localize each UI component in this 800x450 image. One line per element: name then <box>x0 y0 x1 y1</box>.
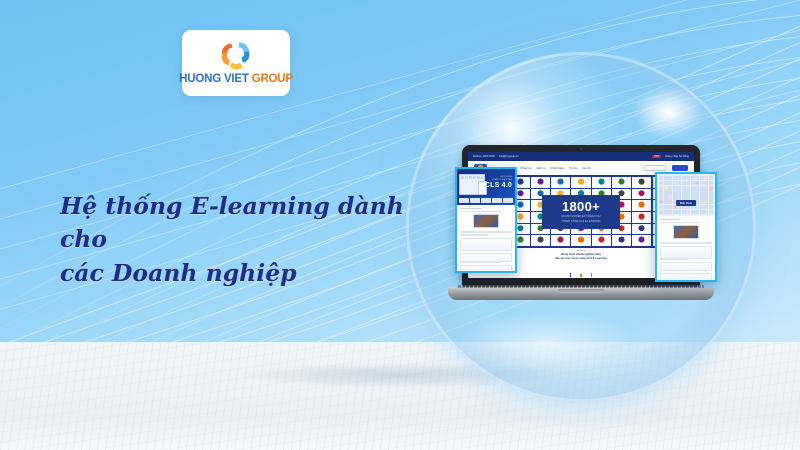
client-logo-tile <box>551 235 570 246</box>
client-logo-tile <box>632 189 651 200</box>
module-cell <box>704 176 708 180</box>
brand-name-part2: GROUP <box>252 73 293 85</box>
panel-left-card <box>460 265 512 273</box>
floating-panel-modules[interactable]: Mô đun <box>655 172 717 282</box>
client-logo-tile <box>592 235 611 246</box>
module-cell <box>664 186 668 190</box>
client-logo-tile <box>531 177 550 188</box>
module-cell <box>686 176 690 180</box>
client-logo-tile <box>612 235 631 246</box>
module-cell <box>673 210 677 214</box>
module-cell <box>709 195 713 199</box>
module-cell <box>682 190 686 194</box>
client-logo-tile <box>571 177 590 188</box>
module-cell <box>673 186 677 190</box>
panel-right-text-line <box>660 259 689 260</box>
module-cell <box>668 176 672 180</box>
panel-left-icon <box>464 198 469 203</box>
brand-logo-card: HUONG VIET GROUP <box>182 30 290 96</box>
client-count-badge: 1800+ DOANH NGHIỆP ĐÃ TRIỂN KHAI THÀNH C… <box>542 195 620 229</box>
module-cell <box>704 210 708 214</box>
panel-right-card <box>660 262 712 271</box>
module-cell <box>691 190 695 194</box>
sphere-light-flare <box>634 86 704 138</box>
module-cell <box>659 195 663 199</box>
module-cell <box>686 195 690 199</box>
module-cell <box>700 205 704 209</box>
client-logo-tile <box>632 177 651 188</box>
module-cell <box>700 210 704 214</box>
nav-item-5[interactable]: Liên hệ <box>582 167 591 170</box>
module-cell <box>686 210 690 214</box>
panel-right-heading-line <box>660 219 681 220</box>
client-logo-tile <box>632 212 651 223</box>
module-cell <box>700 190 704 194</box>
panel-left-icon <box>492 198 497 203</box>
panel-left-title: HỆ THỐNG QUẢN LÝ ĐÀO TẠO CLS 4.0 <box>485 176 512 189</box>
module-cell <box>691 176 695 180</box>
module-cell <box>659 176 663 180</box>
module-cell <box>700 176 704 180</box>
floating-panel-cls[interactable]: HỆ THỐNG QUẢN LÝ ĐÀO TẠO CLS 4.0 <box>455 167 517 273</box>
panel-left-icon <box>459 198 464 203</box>
topbar-hotline: Hotline: 1900 0000 <box>473 155 495 158</box>
panel-right-image-thumb <box>673 225 699 239</box>
module-cell <box>704 195 708 199</box>
module-cell <box>659 200 663 204</box>
panel-left-icon <box>470 198 475 203</box>
module-cell <box>677 186 681 190</box>
module-cell <box>709 186 713 190</box>
module-cell <box>709 210 713 214</box>
client-logo-tile <box>531 235 550 246</box>
panel-left-icon <box>475 198 480 203</box>
module-cell <box>668 200 672 204</box>
slide-canvas: Hotline: 1900 0000 info@hvgroup.vn HOT Đ… <box>0 0 800 450</box>
module-cell <box>695 186 699 190</box>
nav-item-3[interactable]: Khách hàng <box>550 167 564 170</box>
module-cell <box>695 181 699 185</box>
panel-left-icon <box>503 198 508 203</box>
module-cell <box>704 190 708 194</box>
client-logo-tile <box>632 200 651 211</box>
nav-item-2[interactable]: Dịch vụ <box>537 167 546 170</box>
module-cell <box>691 210 695 214</box>
client-logo-tile <box>592 177 611 188</box>
module-cell <box>664 181 668 185</box>
panel-right-card <box>660 246 712 259</box>
panel-left-body <box>457 205 515 273</box>
panel-right-text-line <box>660 242 712 243</box>
footer-line-2: đào tạo trực tuyến cùng CLS E-Learning <box>555 257 607 261</box>
module-cell <box>664 210 668 214</box>
laptop-base <box>448 287 714 300</box>
panel-right-center-label: Mô đun <box>676 200 696 206</box>
module-cell <box>686 190 690 194</box>
module-cell <box>691 186 695 190</box>
panel-left-icon <box>486 198 491 203</box>
panel-left-card <box>460 238 512 251</box>
brand-logo-wordmark: HUONG VIET GROUP <box>179 74 293 86</box>
module-cell <box>709 181 713 185</box>
module-cell <box>709 176 713 180</box>
module-cell <box>673 190 677 194</box>
module-cell <box>704 205 708 209</box>
module-cell <box>700 195 704 199</box>
webcam-icon <box>580 148 582 150</box>
nav-item-1[interactable]: Khóa học <box>521 167 532 170</box>
module-cell <box>668 190 672 194</box>
site-cta-button[interactable] <box>672 165 688 171</box>
module-cell <box>659 210 663 214</box>
panel-left-title-big: CLS 4.0 <box>485 182 512 189</box>
module-cell <box>659 186 663 190</box>
panel-right-body <box>657 216 715 282</box>
module-cell <box>709 205 713 209</box>
topbar-email: info@hvgroup.vn <box>499 155 519 158</box>
module-cell <box>700 186 704 190</box>
client-logo-tile <box>571 235 590 246</box>
module-cell <box>704 186 708 190</box>
panel-left-text-line <box>460 234 489 235</box>
module-cell <box>686 186 690 190</box>
module-cell <box>700 181 704 185</box>
brand-name-part1: HUONG VIET <box>179 73 252 85</box>
module-cell <box>686 181 690 185</box>
module-cell <box>682 186 686 190</box>
module-cell <box>659 190 663 194</box>
panel-left-image-thumb <box>473 214 499 228</box>
module-cell <box>677 176 681 180</box>
panel-left-text-line <box>460 211 501 212</box>
module-cell <box>677 195 681 199</box>
module-cell <box>695 210 699 214</box>
client-count-number: 1800+ <box>562 200 600 213</box>
panel-left-heading-line <box>460 208 481 209</box>
module-cell <box>664 200 668 204</box>
module-matrix-grid <box>659 176 713 214</box>
carousel-dots[interactable] <box>577 250 585 252</box>
module-cell <box>668 186 672 190</box>
panel-left-header: HỆ THỐNG QUẢN LÝ ĐÀO TẠO CLS 4.0 <box>457 169 515 205</box>
nav-item-4[interactable]: Tin tức <box>569 167 577 170</box>
panel-left-icon <box>508 198 513 203</box>
panel-right-card <box>660 273 712 282</box>
module-cell <box>664 190 668 194</box>
panel-left-text-line <box>460 231 512 232</box>
panel-left-icon-row <box>459 198 513 203</box>
module-cell <box>664 176 668 180</box>
panel-left-text-line <box>460 262 501 263</box>
module-cell <box>673 181 677 185</box>
module-cell <box>691 181 695 185</box>
module-cell <box>677 210 681 214</box>
module-cell <box>682 195 686 199</box>
module-cell <box>682 210 686 214</box>
client-logo-tile <box>551 177 570 188</box>
module-cell <box>709 190 713 194</box>
topbar-login-link[interactable]: Đăng nhập hệ thống <box>665 155 689 158</box>
module-cell <box>673 195 677 199</box>
client-logo-tile <box>632 235 651 246</box>
panel-right-text-line <box>660 222 701 223</box>
module-cell <box>704 200 708 204</box>
module-cell <box>695 190 699 194</box>
module-cell <box>659 181 663 185</box>
panel-left-card <box>460 253 512 262</box>
module-cell <box>691 195 695 199</box>
module-cell <box>677 181 681 185</box>
client-count-sub-2: THÀNH CÔNG CLS E-LEARNING <box>561 220 600 223</box>
module-cell <box>704 181 708 185</box>
module-cell <box>682 176 686 180</box>
module-cell <box>668 205 672 209</box>
panel-right-header <box>657 174 715 216</box>
site-search-input[interactable] <box>643 165 667 171</box>
module-cell <box>664 195 668 199</box>
module-cell <box>668 210 672 214</box>
module-cell <box>682 181 686 185</box>
module-cell <box>677 190 681 194</box>
panel-left-icon <box>481 198 486 203</box>
client-logo-tile <box>612 177 631 188</box>
site-topbar: Hotline: 1900 0000 info@hvgroup.vn HOT Đ… <box>468 152 694 161</box>
headline-line-1: Hệ thống E-learning dành cho <box>60 190 440 257</box>
client-logo-tile <box>632 224 651 235</box>
huong-viet-group-mark-icon <box>216 41 256 71</box>
topbar-hot-badge: HOT <box>652 155 661 158</box>
module-cell <box>668 181 672 185</box>
module-cell <box>695 195 699 199</box>
client-count-sub-1: DOANH NGHIỆP ĐÃ TRIỂN KHAI <box>561 215 600 218</box>
module-cell <box>700 200 704 204</box>
headline-line-2: các Doanh nghiệp <box>60 257 440 290</box>
module-cell <box>709 200 713 204</box>
module-cell <box>659 205 663 209</box>
sphere-bottom-gloss <box>458 312 638 372</box>
module-cell <box>668 195 672 199</box>
panel-left-icon <box>497 198 502 203</box>
keyboard-strip <box>458 285 704 288</box>
page-title: Hệ thống E-learning dành cho các Doanh n… <box>60 190 440 290</box>
module-cell <box>664 205 668 209</box>
module-cell <box>673 176 677 180</box>
module-cell <box>695 176 699 180</box>
module-cell <box>695 205 699 209</box>
